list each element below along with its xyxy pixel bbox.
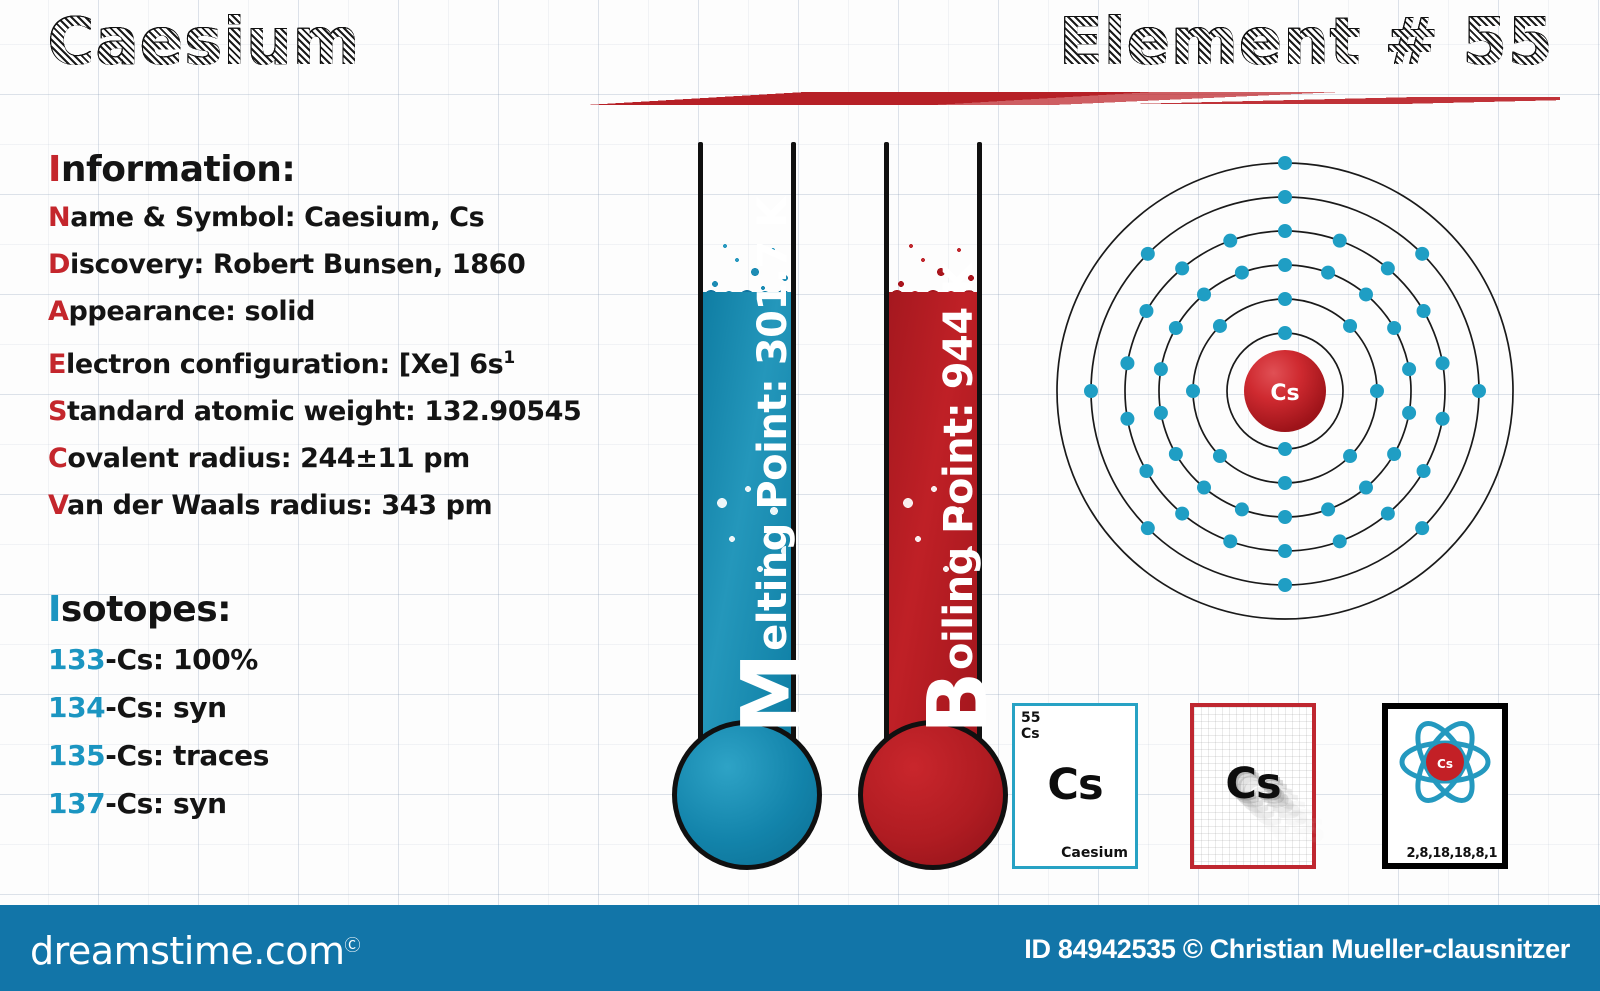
- isotope-text: -Cs: traces: [105, 739, 269, 772]
- electron: [1197, 287, 1211, 301]
- electron: [1139, 464, 1153, 478]
- electron: [1417, 304, 1431, 318]
- element-symbol-large: Cs: [1015, 760, 1135, 810]
- info-row-name-symbol: Name & Symbol: Caesium, Cs: [48, 194, 688, 241]
- electron: [1472, 384, 1486, 398]
- isotope-mass: 137: [48, 787, 105, 820]
- isotope-text: -Cs: syn: [105, 691, 226, 724]
- flat-long-shadow-symbol-box[interactable]: Cs: [1190, 703, 1316, 869]
- boiling-initial: B: [926, 672, 992, 734]
- electron: [1223, 234, 1237, 248]
- electron: [1417, 464, 1431, 478]
- atom-orbit-icon: Cs: [1388, 709, 1502, 827]
- isotope-mass: 135: [48, 739, 105, 772]
- element-number-title: Element # 55: [1059, 6, 1554, 80]
- electron: [1235, 502, 1249, 516]
- isotope-text: -Cs: syn: [105, 787, 226, 820]
- header: Caesium Element # 55: [0, 0, 1600, 100]
- atomic-number: 55: [1021, 710, 1040, 726]
- electron: [1436, 412, 1450, 426]
- electron: [1186, 384, 1200, 398]
- electron: [1278, 292, 1292, 306]
- info-text: lectron configuration: [Xe] 6s: [66, 349, 503, 380]
- electron: [1084, 384, 1098, 398]
- isotopes-heading-rest: sotopes:: [61, 589, 231, 630]
- electron: [1278, 326, 1292, 340]
- melting-initial: M: [740, 653, 806, 734]
- electron: [1278, 224, 1292, 238]
- isotopes-section: Isotopes: 133-Cs: 100% 134-Cs: syn 135-C…: [48, 584, 568, 828]
- info-row-vanderwaals-radius: Van der Waals radius: 343 pm: [48, 482, 688, 529]
- isotope-mass: 133: [48, 643, 105, 676]
- electron: [1278, 476, 1292, 490]
- electron: [1370, 384, 1384, 398]
- info-capital: A: [48, 296, 69, 327]
- electron: [1169, 447, 1183, 461]
- info-row-electron-configuration: Electron configuration: [Xe] 6s1: [48, 335, 688, 388]
- thermometer-label-wrap: Boiling Point: 944 K: [884, 142, 982, 870]
- electron: [1359, 481, 1373, 495]
- electron: [1333, 534, 1347, 548]
- electron: [1381, 507, 1395, 521]
- electron: [1235, 266, 1249, 280]
- information-heading-capital: I: [48, 149, 61, 190]
- electron: [1321, 502, 1335, 516]
- electron: [1278, 510, 1292, 524]
- electron: [1169, 321, 1183, 335]
- thermometer-label-wrap: Melting Point: 301.7 K: [698, 142, 796, 870]
- isotope-mass: 134: [48, 691, 105, 724]
- information-heading-rest: nformation:: [61, 149, 295, 190]
- electron: [1197, 481, 1211, 495]
- bohr-svg: Cs: [1045, 152, 1525, 630]
- info-capital: N: [48, 202, 70, 233]
- electron: [1154, 362, 1168, 376]
- info-text: ovalent radius: 244±11 pm: [67, 443, 470, 474]
- electron: [1387, 447, 1401, 461]
- info-capital: E: [48, 349, 66, 380]
- periodic-table-cell-box[interactable]: 55 Cs Cs Caesium: [1012, 703, 1138, 869]
- superscript-one: 1: [503, 348, 514, 368]
- info-text: iscovery: Robert Bunsen, 1860: [70, 249, 525, 280]
- nucleus-symbol: Cs: [1270, 381, 1299, 406]
- electron: [1415, 521, 1429, 535]
- dreamstime-logo: dreamstime.comⒸ: [30, 929, 360, 973]
- information-heading: Information:: [48, 148, 688, 192]
- electron: [1278, 544, 1292, 558]
- info-text: an der Waals radius: 343 pm: [67, 490, 492, 521]
- electron: [1278, 190, 1292, 204]
- atom-icon-box[interactable]: Cs 2,8,18,18,8,1: [1382, 703, 1508, 869]
- info-text: ppearance: solid: [69, 296, 316, 327]
- info-capital: S: [48, 396, 67, 427]
- isotope-row-134: 134-Cs: syn: [48, 684, 568, 732]
- element-name-label: Caesium: [1061, 845, 1128, 861]
- atomic-number-and-symbol: 55 Cs: [1021, 710, 1040, 742]
- electron: [1175, 507, 1189, 521]
- electron: [1402, 406, 1416, 420]
- electron: [1120, 356, 1134, 370]
- page-title: Caesium: [48, 6, 361, 80]
- electron: [1321, 266, 1335, 280]
- boiling-text: oiling Point: 944 K: [936, 263, 982, 670]
- info-capital: C: [48, 443, 67, 474]
- info-capital: V: [48, 490, 67, 521]
- information-section: Information: Name & Symbol: Caesium, Cs …: [48, 148, 688, 529]
- isotope-text: -Cs: 100%: [105, 643, 258, 676]
- registered-icon: Ⓒ: [344, 935, 360, 954]
- info-row-appearance: Appearance: solid: [48, 288, 688, 335]
- isotope-row-137: 137-Cs: syn: [48, 780, 568, 828]
- electron: [1213, 449, 1227, 463]
- electron: [1278, 258, 1292, 272]
- melting-text: elting Point: 301.7 K: [750, 197, 796, 651]
- electron: [1154, 406, 1168, 420]
- bohr-atom-diagram: Cs: [1045, 152, 1525, 630]
- credit-text: ID 84942535 © Christian Mueller-clausnit…: [1024, 934, 1570, 965]
- element-symbol-long-shadow: Cs: [1194, 759, 1312, 809]
- electron: [1436, 356, 1450, 370]
- electron: [1223, 534, 1237, 548]
- electron: [1402, 362, 1416, 376]
- info-text: tandard atomic weight: 132.90545: [67, 396, 581, 427]
- electron-configuration-label: 2,8,18,18,8,1: [1406, 846, 1497, 861]
- info-row-discovery: Discovery: Robert Bunsen, 1860: [48, 241, 688, 288]
- electron: [1139, 304, 1153, 318]
- electron: [1175, 261, 1189, 275]
- electron: [1141, 247, 1155, 261]
- electron: [1141, 521, 1155, 535]
- electron: [1333, 234, 1347, 248]
- electron: [1381, 261, 1395, 275]
- isotopes-heading: Isotopes:: [48, 584, 568, 636]
- electron: [1387, 321, 1401, 335]
- isotopes-heading-capital: I: [48, 589, 61, 630]
- dreamstime-logo-text: dreamstime.com: [30, 929, 344, 973]
- electron: [1359, 287, 1373, 301]
- electron: [1278, 578, 1292, 592]
- atom-nucleus-symbol: Cs: [1437, 757, 1453, 771]
- isotope-row-135: 135-Cs: traces: [48, 732, 568, 780]
- symbol-small: Cs: [1021, 726, 1040, 742]
- red-brush-divider: [40, 92, 1560, 105]
- info-text: ame & Symbol: Caesium, Cs: [70, 202, 484, 233]
- info-capital: D: [48, 249, 70, 280]
- electron: [1213, 319, 1227, 333]
- footer-bar: dreamstime.comⒸ ID 84942535 © Christian …: [0, 905, 1600, 991]
- electron: [1278, 442, 1292, 456]
- info-row-covalent-radius: Covalent radius: 244±11 pm: [48, 435, 688, 482]
- isotope-row-133: 133-Cs: 100%: [48, 636, 568, 684]
- electron: [1278, 156, 1292, 170]
- electron: [1415, 247, 1429, 261]
- electron: [1343, 449, 1357, 463]
- info-row-atomic-weight: Standard atomic weight: 132.90545: [48, 388, 688, 435]
- electron: [1343, 319, 1357, 333]
- electron: [1120, 412, 1134, 426]
